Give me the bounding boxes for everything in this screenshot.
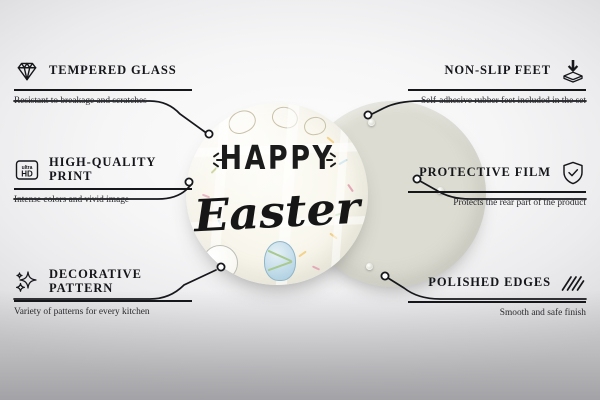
diagonal-stripes-icon xyxy=(560,270,586,296)
feature-title: HIGH-QUALITY PRINT xyxy=(49,156,192,183)
feature-polished-edges: POLISHED EDGES Smooth and safe finish xyxy=(408,270,586,319)
divider xyxy=(408,301,586,303)
feature-non-slip-feet: NON-SLIP FEET Self-adhesive rubber feet … xyxy=(408,58,586,107)
diamond-icon xyxy=(14,58,40,84)
shield-check-icon xyxy=(560,160,586,186)
divider xyxy=(408,89,586,91)
connector-dot-non-slip-feet xyxy=(364,111,371,118)
feature-title: NON-SLIP FEET xyxy=(444,64,551,78)
sparkle-icon xyxy=(14,269,40,295)
feature-title: DECORATIVE PATTERN xyxy=(49,268,192,295)
ultra-hd-icon: ultra HD xyxy=(14,157,40,183)
feature-high-quality-print: ultra HD HIGH-QUALITY PRINT Intense colo… xyxy=(14,156,192,206)
feature-description: Protects the rear part of the product xyxy=(408,198,586,210)
feature-title: POLISHED EDGES xyxy=(428,276,551,290)
divider xyxy=(14,188,192,190)
connector-dot-tempered-glass xyxy=(205,130,212,137)
divider xyxy=(408,191,586,193)
feature-title: PROTECTIVE FILM xyxy=(419,166,551,180)
feature-protective-film: PROTECTIVE FILM Protects the rear part o… xyxy=(408,160,586,209)
feature-decorative-pattern: DECORATIVE PATTERN Variety of patterns f… xyxy=(14,268,192,318)
feature-description: Resistant to breakage and scratches xyxy=(14,96,192,108)
feature-title: TEMPERED GLASS xyxy=(49,64,177,78)
feature-description: Intense colors and vivid image xyxy=(14,195,192,207)
feature-description: Self-adhesive rubber feet included in th… xyxy=(408,96,586,108)
svg-text:HD: HD xyxy=(21,169,33,178)
connector-dot-decorative-pattern xyxy=(217,263,224,270)
press-down-pad-icon xyxy=(560,58,586,84)
infographic-canvas: HAPPY Easter TEMPERED GLASS Resistant to… xyxy=(0,0,600,400)
feature-description: Variety of patterns for every kitchen xyxy=(14,307,192,319)
divider xyxy=(14,300,192,302)
connector-dot-polished-edges xyxy=(381,272,388,279)
feature-tempered-glass: TEMPERED GLASS Resistant to breakage and… xyxy=(14,58,192,107)
divider xyxy=(14,89,192,91)
feature-description: Smooth and safe finish xyxy=(408,308,586,320)
